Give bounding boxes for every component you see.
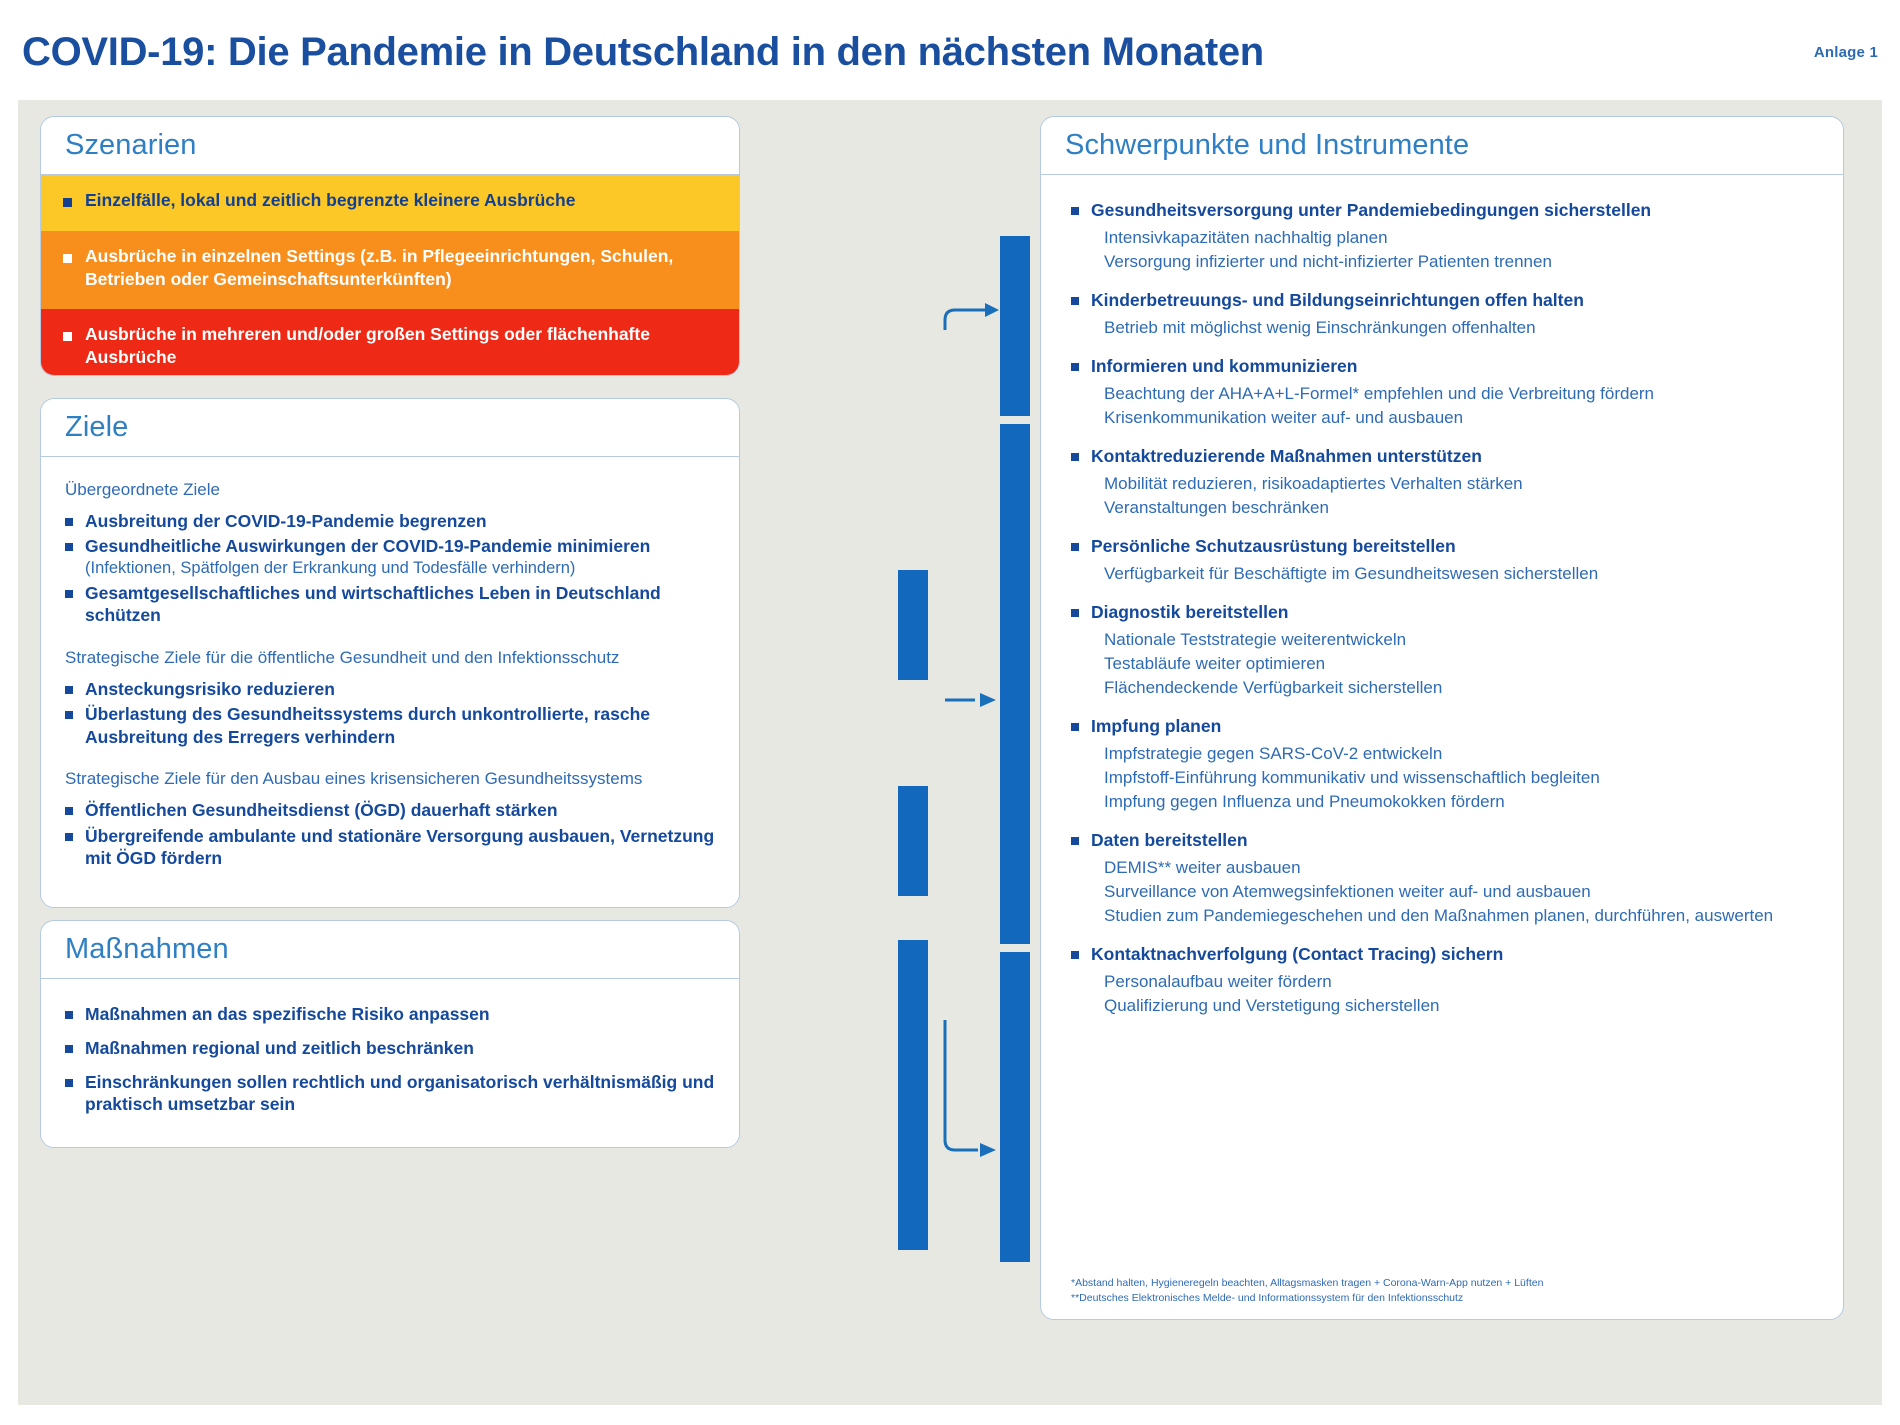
- focus-item: Daten bereitstellen DEMIS** weiter ausba…: [1071, 829, 1825, 928]
- focus-item-title: Kontaktnachverfolgung (Contact Tracing) …: [1091, 943, 1503, 966]
- focus-item-sub: Impfstrategie gegen SARS-CoV-2 entwickel…: [1104, 742, 1825, 766]
- focus-item-sub: Betrieb mit möglichst wenig Einschränkun…: [1104, 316, 1825, 340]
- bullet-square-icon: [1071, 723, 1079, 731]
- focus-item-title: Kinderbetreuungs- und Bildungseinrichtun…: [1091, 289, 1584, 312]
- arrow-head-3: [980, 1143, 996, 1157]
- focus-item-sub: DEMIS** weiter ausbauen: [1104, 856, 1825, 880]
- bullet-square-icon: [1071, 207, 1079, 215]
- focus-item: Persönliche Schutzausrüstung bereitstell…: [1071, 535, 1825, 586]
- focus-item-sub: Surveillance von Atemwegsinfektionen wei…: [1104, 880, 1825, 904]
- focus-item: Impfung planen Impfstrategie gegen SARS-…: [1071, 715, 1825, 814]
- arrow-path-1: [945, 310, 985, 330]
- focus-item-sub: Beachtung der AHA+A+L-Formel* empfehlen …: [1104, 382, 1825, 406]
- focus-item-sub: Verfügbarkeit für Beschäftigte im Gesund…: [1104, 562, 1825, 586]
- focus-item-title: Persönliche Schutzausrüstung bereitstell…: [1091, 535, 1456, 558]
- arrow-head-1: [985, 303, 999, 317]
- footnote-demis: **Deutsches Elektronisches Melde- und In…: [1071, 1291, 1827, 1307]
- focus-item-sub: Nationale Teststrategie weiterentwickeln: [1104, 628, 1825, 652]
- focus-item: Kinderbetreuungs- und Bildungseinrichtun…: [1071, 289, 1825, 340]
- arrow-path-3: [945, 1020, 978, 1150]
- focus-item-title: Daten bereitstellen: [1091, 829, 1248, 852]
- focus-body: Gesundheitsversorgung unter Pandemiebedi…: [1041, 175, 1843, 1319]
- focus-item-sub: Impfstoff-Einführung kommunikativ und wi…: [1104, 766, 1825, 790]
- arrow-head-2: [980, 693, 996, 707]
- focus-item-title: Kontaktreduzierende Maßnahmen unterstütz…: [1091, 445, 1482, 468]
- bullet-square-icon: [1071, 609, 1079, 617]
- focus-item-sub: Personalaufbau weiter fördern: [1104, 970, 1825, 994]
- focus-item-sub: Impfung gegen Influenza und Pneumokokken…: [1104, 790, 1825, 814]
- focus-item-sub: Qualifizierung und Verstetigung sicherst…: [1104, 994, 1825, 1018]
- bullet-square-icon: [1071, 543, 1079, 551]
- focus-item-title: Impfung planen: [1091, 715, 1221, 738]
- bullet-square-icon: [1071, 453, 1079, 461]
- focus-item-sub: Krisenkommunikation weiter auf- und ausb…: [1104, 406, 1825, 430]
- focus-item-title: Gesundheitsversorgung unter Pandemiebedi…: [1091, 199, 1651, 222]
- focus-item: Diagnostik bereitstellen Nationale Tests…: [1071, 601, 1825, 700]
- focus-item-title: Diagnostik bereitstellen: [1091, 601, 1288, 624]
- focus-item: Gesundheitsversorgung unter Pandemiebedi…: [1071, 199, 1825, 274]
- focus-item-sub: Veranstaltungen beschränken: [1104, 496, 1825, 520]
- focus-item-sub: Mobilität reduzieren, risikoadaptiertes …: [1104, 472, 1825, 496]
- focus-item-title: Informieren und kommunizieren: [1091, 355, 1357, 378]
- bullet-square-icon: [1071, 837, 1079, 845]
- focus-heading: Schwerpunkte und Instrumente: [1065, 129, 1469, 162]
- bullet-square-icon: [1071, 297, 1079, 305]
- focus-item: Informieren und kommunizieren Beachtung …: [1071, 355, 1825, 430]
- focus-item-sub: Testabläufe weiter optimieren: [1104, 652, 1825, 676]
- focus-header: Schwerpunkte und Instrumente: [1041, 117, 1843, 175]
- focus-item: Kontaktreduzierende Maßnahmen unterstütz…: [1071, 445, 1825, 520]
- footnotes: *Abstand halten, Hygieneregeln beachten,…: [1071, 1276, 1827, 1308]
- footnote-aha: *Abstand halten, Hygieneregeln beachten,…: [1071, 1276, 1827, 1292]
- focus-item-sub: Studien zum Pandemiegeschehen und den Ma…: [1104, 904, 1825, 928]
- focus-item-sub: Versorgung infizierter und nicht-infizie…: [1104, 250, 1825, 274]
- bullet-square-icon: [1071, 951, 1079, 959]
- focus-item-sub: Flächendeckende Verfügbarkeit sicherstel…: [1104, 676, 1825, 700]
- focus-card: Schwerpunkte und Instrumente Gesundheits…: [1040, 116, 1844, 1320]
- page-root: COVID-19: Die Pandemie in Deutschland in…: [0, 0, 1900, 1425]
- focus-item: Kontaktnachverfolgung (Contact Tracing) …: [1071, 943, 1825, 1018]
- focus-item-sub: Intensivkapazitäten nachhaltig planen: [1104, 226, 1825, 250]
- bullet-square-icon: [1071, 363, 1079, 371]
